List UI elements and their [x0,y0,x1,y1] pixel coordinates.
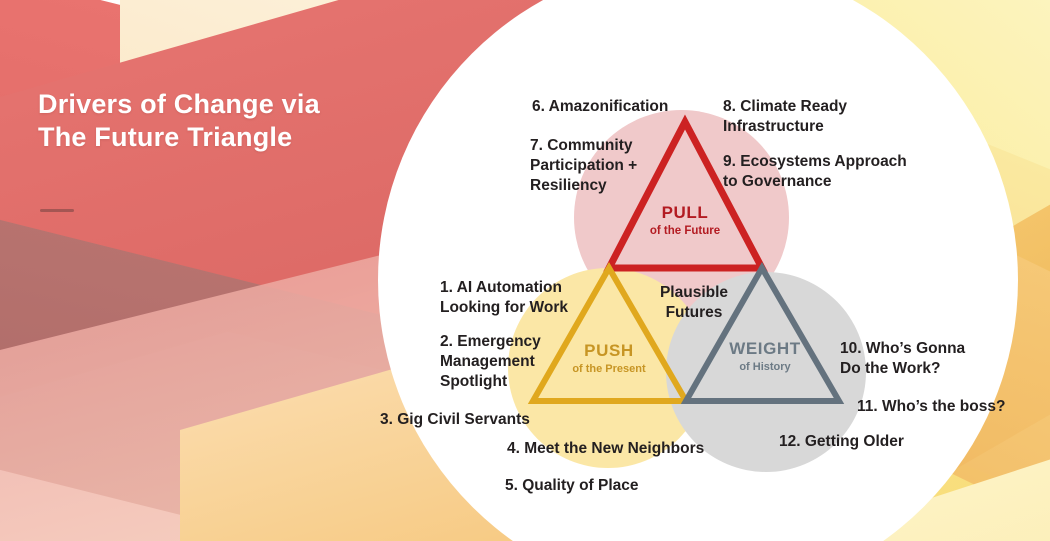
triangle-caption-weight-subtitle: of History [710,361,820,373]
driver-label-9: 9. Ecosystems Approach to Governance [723,152,923,192]
driver-label-6: 6. Amazonification [532,97,668,117]
driver-label-12: 12. Getting Older [779,432,904,452]
driver-label-3: 3. Gig Civil Servants [380,410,530,430]
driver-label-8: 8. Climate Ready Infrastructure [723,97,913,137]
driver-label-10: 10. Who’s Gonna Do the Work? [840,339,1020,379]
slide-canvas: Drivers of Change via The Future Triangl… [0,0,1050,541]
triangle-caption-weight-title: WEIGHT [710,339,820,359]
triangle-caption-pull: PULL of the Future [632,203,738,237]
triangle-caption-weight: WEIGHT of History [710,339,820,373]
driver-label-7: 7. Community Participation + Resiliency [530,136,710,195]
driver-label-2: 2. Emergency Management Spotlight [440,332,600,391]
future-triangle-diagram [0,0,1050,541]
triangle-caption-pull-subtitle: of the Future [632,225,738,237]
triangle-caption-pull-title: PULL [632,203,738,223]
plausible-futures-label: Plausible Futures [642,283,746,323]
driver-label-5: 5. Quality of Place [505,476,639,496]
driver-label-1: 1. AI Automation Looking for Work [440,278,630,318]
driver-label-11: 11. Who’s the boss? [857,397,1005,417]
driver-label-4: 4. Meet the New Neighbors [507,439,704,459]
